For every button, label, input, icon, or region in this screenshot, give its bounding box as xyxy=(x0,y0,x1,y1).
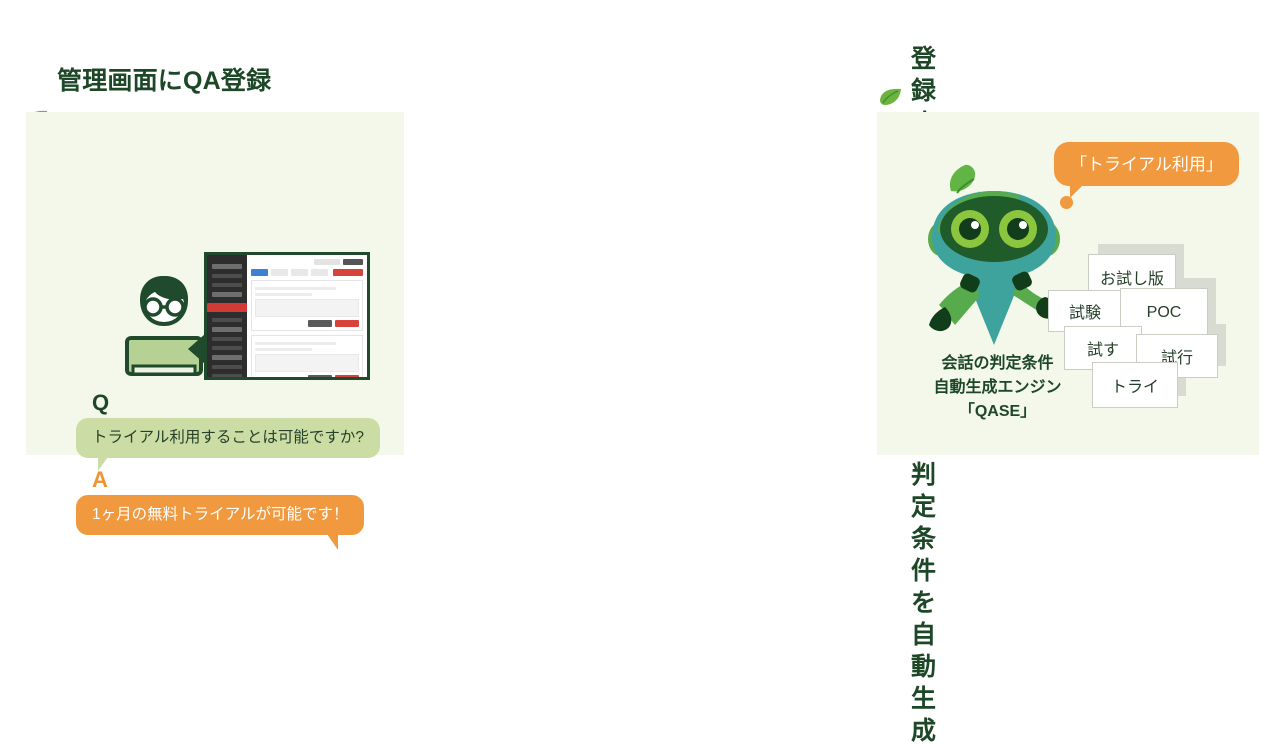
person-with-glasses-laptop-icon xyxy=(121,272,207,382)
feature-diagram: 管理画面にQA登録 xyxy=(0,0,1284,489)
admin-console-screenshot xyxy=(204,252,370,380)
panel-register-qa: 管理画面にQA登録 xyxy=(0,0,430,489)
admin-content xyxy=(247,255,367,377)
answer-text: 1ヶ月の無料トライアルが可能です！ xyxy=(92,507,348,523)
answer-letter: A xyxy=(92,467,108,493)
panel-auto-generate: 登録されたQAをもとに 大量の判定条件を自動生成 xyxy=(430,0,860,489)
panel-1-heading-text: 管理画面にQA登録 xyxy=(57,65,271,97)
panel-1-stage: Q トライアル利用することは可能ですか? A 1ヶ月の無料トライアルが可能です！ xyxy=(26,112,404,455)
question-letter: Q xyxy=(92,390,109,416)
question-bubble: トライアル利用することは可能ですか? xyxy=(76,418,380,458)
admin-sidebar xyxy=(207,255,247,377)
left-arrow-icon xyxy=(188,334,205,364)
answer-bubble: 1ヶ月の無料トライアルが可能です！ xyxy=(76,495,364,535)
question-text: トライアル利用することは可能ですか? xyxy=(92,430,364,446)
bubble-tail xyxy=(315,534,338,550)
panel-variation-support: ユーザーの多様な言い回しに 自動的に対応可能 xyxy=(860,0,1284,489)
